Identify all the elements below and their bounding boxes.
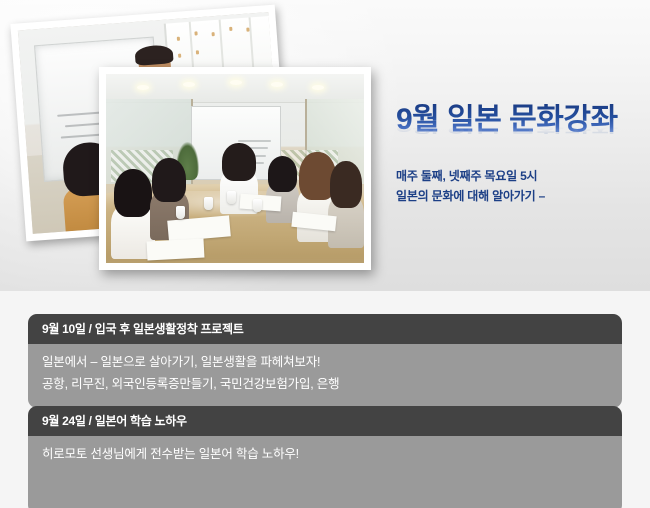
classroom-photo-front bbox=[99, 67, 371, 270]
person-5 bbox=[328, 165, 364, 248]
schedule-card-2-header: 9월 24일 / 일본어 학습 노하우 bbox=[28, 406, 622, 436]
poster-page: 9월 일본 문화강좌 9월 일본 문화강좌 매주 둘째, 넷째주 목요일 5시 … bbox=[0, 0, 650, 508]
photo-front-image bbox=[106, 74, 364, 263]
schedule-card-1-header: 9월 10일 / 입국 후 일본생활정착 프로젝트 bbox=[28, 314, 622, 344]
schedule-card-2-body: 히로모토 선생님에게 전수받는 일본어 학습 노하우! bbox=[28, 436, 622, 508]
schedule-card-1: 9월 10일 / 입국 후 일본생활정착 프로젝트 일본에서 – 일본으로 살아… bbox=[28, 314, 622, 408]
hero-banner: 9월 일본 문화강좌 9월 일본 문화강좌 매주 둘째, 넷째주 목요일 5시 … bbox=[0, 0, 650, 291]
schedule-card-2-line-1: 히로모토 선생님에게 전수받는 일본어 학습 노하우! bbox=[42, 444, 622, 466]
schedule-card-1-line-2: 공항, 리무진, 외국인등록증만들기, 국민건강보험가입, 은행 bbox=[42, 374, 622, 396]
schedule-card-1-body: 일본에서 – 일본으로 살아가기, 일본생활을 파헤쳐보자! 공항, 리무진, … bbox=[28, 344, 622, 408]
handout bbox=[147, 239, 205, 261]
schedule-card-2: 9월 24일 / 일본어 학습 노하우 히로모토 선생님에게 전수받는 일본어 … bbox=[28, 406, 622, 508]
banner-title-block: 9월 일본 문화강좌 9월 일본 문화강좌 매주 둘째, 넷째주 목요일 5시 … bbox=[396, 104, 640, 207]
page-title-reflection: 9월 일본 문화강좌 bbox=[396, 127, 640, 135]
schedule-card-1-line-1: 일본에서 – 일본으로 살아가기, 일본생활을 파헤쳐보자! bbox=[42, 352, 622, 374]
schedule-sections: 9월 10일 / 입국 후 일본생활정착 프로젝트 일본에서 – 일본으로 살아… bbox=[0, 291, 650, 508]
subtitle-line-2: 일본의 문화에 대해 알아가기 – bbox=[396, 187, 640, 207]
banner-subtitle: 매주 둘째, 넷째주 목요일 5시 일본의 문화에 대해 알아가기 – bbox=[396, 167, 640, 207]
photo-front-scene bbox=[106, 74, 364, 263]
subtitle-line-1: 매주 둘째, 넷째주 목요일 5시 bbox=[396, 167, 640, 187]
